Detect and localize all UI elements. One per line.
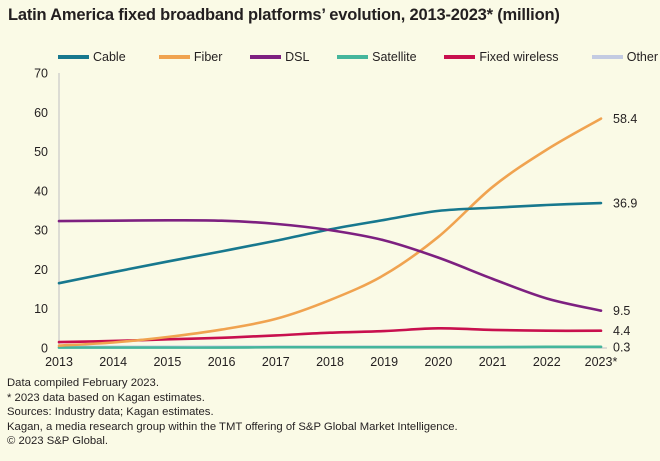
end-label-fixed-wireless: 4.4 — [613, 324, 630, 338]
series-line-cable — [59, 203, 601, 283]
x-axis-tick-label: 2020 — [424, 355, 452, 369]
y-axis-tick-label: 60 — [34, 106, 48, 120]
footer-line: * 2023 data based on Kagan estimates. — [7, 391, 458, 406]
y-axis-tick-label: 70 — [34, 67, 48, 81]
footer-line: © 2023 S&P Global. — [7, 434, 458, 449]
end-label-fiber: 58.4 — [613, 112, 637, 126]
x-axis-tick-label: 2017 — [262, 355, 290, 369]
x-axis-tick-label: 2015 — [153, 355, 181, 369]
x-axis-tick-label: 2018 — [316, 355, 344, 369]
x-axis-tick-label: 2016 — [208, 355, 236, 369]
footer-line: Sources: Industry data; Kagan estimates. — [7, 405, 458, 420]
y-axis-tick-label: 30 — [34, 224, 48, 238]
x-axis-tick-label: 2019 — [370, 355, 398, 369]
y-axis-tick-label: 50 — [34, 145, 48, 159]
x-axis-tick-label: 2022 — [533, 355, 561, 369]
y-axis-tick-label: 20 — [34, 263, 48, 277]
series-line-satellite — [59, 347, 601, 348]
end-label-dsl: 9.5 — [613, 304, 630, 318]
chart-footer: Data compiled February 2023.* 2023 data … — [7, 376, 458, 449]
footer-line: Kagan, a media research group within the… — [7, 420, 458, 435]
series-end-labels: 36.958.49.54.40.3 — [613, 112, 637, 354]
end-label-other: 0.3 — [613, 340, 630, 354]
series-line-dsl — [59, 220, 601, 310]
y-axis-tick-label: 40 — [34, 184, 48, 198]
y-axis-tick-label: 0 — [41, 342, 48, 356]
end-label-cable: 36.9 — [613, 197, 637, 211]
y-axis: 010203040506070 — [34, 67, 59, 356]
x-axis-tick-label: 2014 — [99, 355, 127, 369]
footer-line: Data compiled February 2023. — [7, 376, 458, 391]
x-axis-tick-label: 2021 — [479, 355, 507, 369]
y-axis-tick-label: 10 — [34, 302, 48, 316]
x-axis: 2013201420152016201720182019202020212022… — [45, 348, 617, 369]
series-lines — [59, 119, 601, 348]
x-axis-tick-label: 2013 — [45, 355, 73, 369]
x-axis-tick-label: 2023* — [585, 355, 618, 369]
series-line-fiber — [59, 119, 601, 346]
